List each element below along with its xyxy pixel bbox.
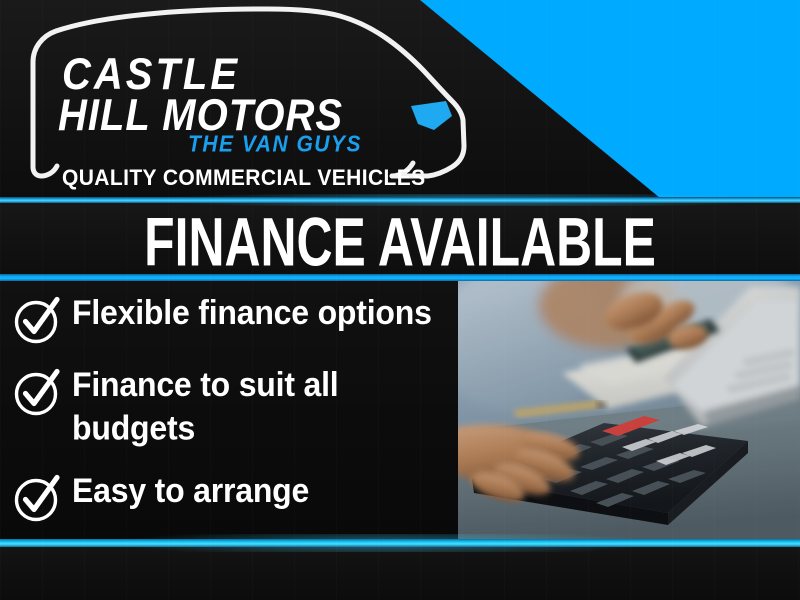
page-title: FINANCE AVAILABLE — [56, 203, 744, 274]
mid-blue-rule — [0, 274, 800, 281]
content-area: Flexible finance options Finance to suit… — [0, 281, 800, 539]
finance-available-banner: CASTLE HILL MOTORS THE VAN GUYS QUALITY … — [0, 0, 800, 600]
headline-band: FINANCE AVAILABLE — [0, 203, 800, 274]
van-mirror-icon — [411, 101, 452, 130]
calculator-photo-art — [458, 281, 800, 539]
list-item: Easy to arrange — [12, 469, 309, 523]
list-item: Flexible finance options — [12, 291, 432, 345]
calculator-photo — [458, 281, 800, 539]
list-item-label: Flexible finance options — [72, 291, 432, 334]
top-blue-rule — [0, 197, 800, 203]
list-item-label: Easy to arrange — [72, 469, 309, 512]
list-item: Finance to suit all budgets — [12, 363, 458, 445]
check-circle-icon — [12, 293, 64, 345]
list-item-label: Finance to suit all budgets — [72, 363, 458, 450]
bottom-blue-rule — [0, 539, 800, 547]
header-logo-panel: CASTLE HILL MOTORS THE VAN GUYS QUALITY … — [0, 0, 800, 198]
footer-plate — [0, 547, 800, 600]
check-circle-icon — [12, 471, 64, 523]
logo-tagline: THE VAN GUYS — [188, 133, 362, 156]
check-circle-icon — [12, 365, 64, 417]
feature-list: Flexible finance options Finance to suit… — [0, 281, 458, 539]
logo-strapline: QUALITY COMMERCIAL VEHICLES — [62, 167, 426, 189]
